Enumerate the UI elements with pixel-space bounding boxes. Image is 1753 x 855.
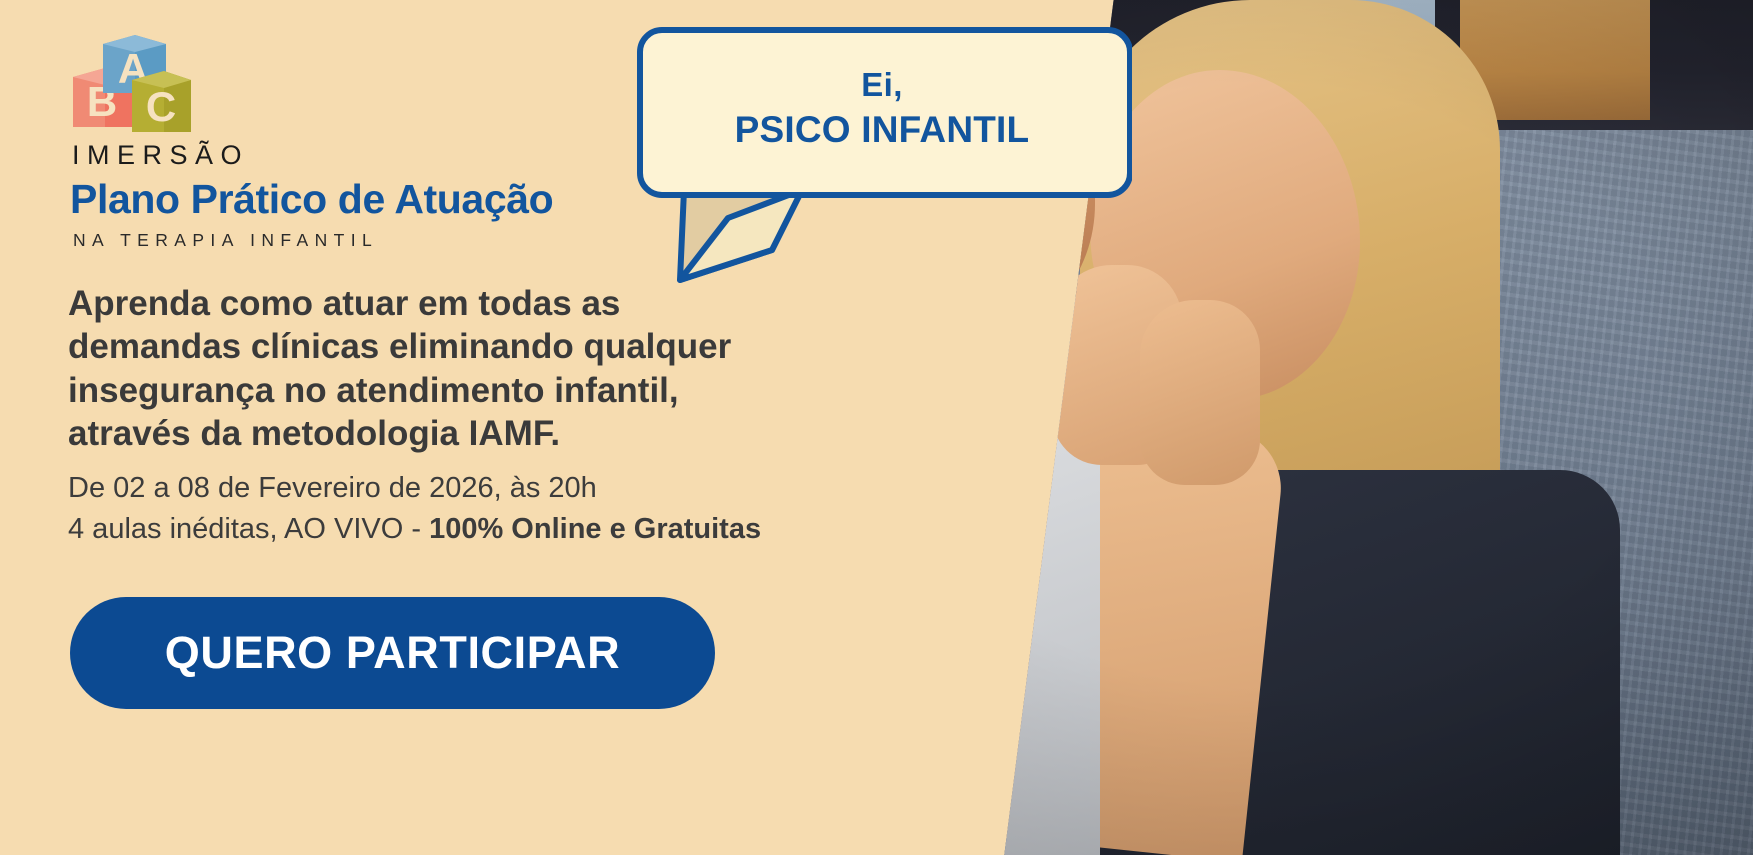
headline-line-3: insegurança no atendimento infantil,: [68, 369, 798, 412]
event-format-line: 4 aulas inéditas, AO VIVO - 100% Online …: [68, 513, 761, 546]
event-format-prefix: 4 aulas inéditas, AO VIVO -: [68, 513, 429, 545]
speech-bubble-shape: [632, 22, 1132, 292]
brand-subtitle: NA TERAPIA INFANTIL: [73, 230, 378, 251]
quero-participar-button[interactable]: QUERO PARTICIPAR: [70, 597, 715, 709]
svg-text:C: C: [146, 83, 176, 130]
event-date-line: De 02 a 08 de Fevereiro de 2026, às 20h: [68, 472, 597, 505]
page-title: Plano Prático de Atuação: [70, 176, 553, 223]
block-c-icon: C: [132, 71, 191, 132]
content-column: B A C IMERSÃO Plano Prático de: [0, 0, 660, 855]
speech-bubble: Ei, PSICO INFANTIL: [632, 22, 1132, 292]
abc-blocks-logo: B A C: [72, 28, 192, 138]
event-format-emphasis: 100% Online e Gratuitas: [429, 513, 761, 545]
headline-line-2: demandas clínicas eliminando qualquer: [68, 325, 798, 368]
brand-eyebrow: IMERSÃO: [72, 140, 249, 171]
abc-blocks-icon: B A C: [72, 28, 192, 138]
headline-line-4: através da metodologia IAMF.: [68, 412, 798, 455]
headline-paragraph: Aprenda como atuar em todas as demandas …: [68, 282, 798, 456]
promo-banner: B A C IMERSÃO Plano Prático de: [0, 0, 1753, 855]
